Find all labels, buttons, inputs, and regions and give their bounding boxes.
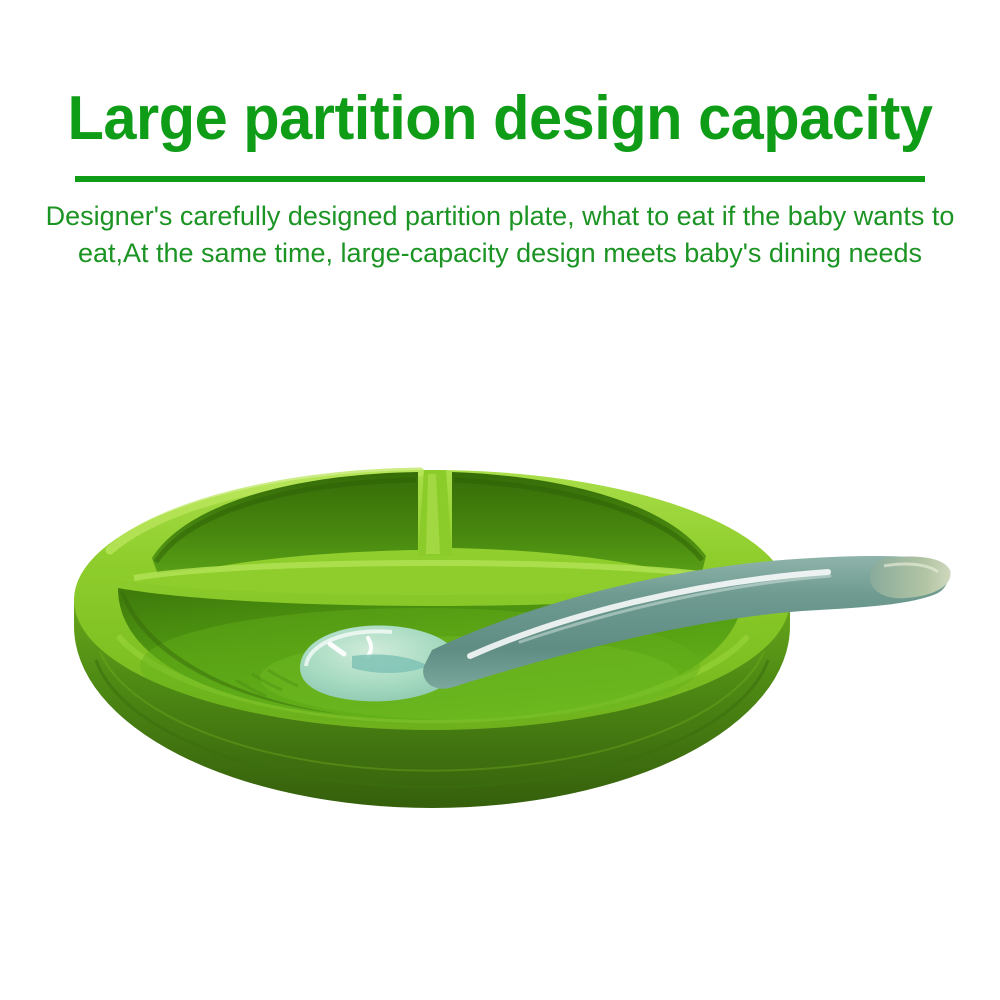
plate-and-spoon-illustration (0, 430, 1000, 850)
product-marketing-page: Large partition design capacity Designer… (0, 0, 1000, 1000)
title-divider (75, 176, 925, 182)
product-description: Designer's carefully designed partition … (30, 198, 970, 272)
page-title: Large partition design capacity (20, 84, 980, 154)
product-image (0, 430, 1000, 850)
